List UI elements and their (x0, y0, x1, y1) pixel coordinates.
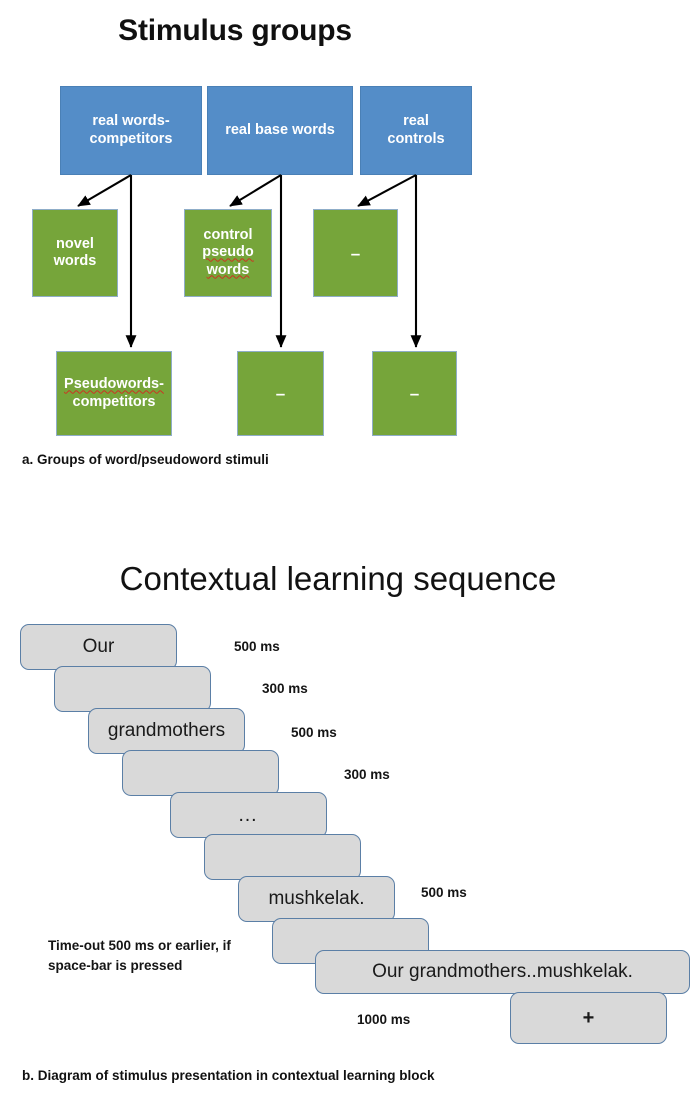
stimulus-card-5: … (170, 792, 327, 838)
duration-label-5: 500 ms (421, 885, 467, 900)
stimulus-card-4 (122, 750, 279, 796)
timeout-note: Time-out 500 ms or earlier, if space-bar… (48, 936, 263, 975)
box-line-1: Pseudowords- (64, 376, 164, 393)
box-dash: – (351, 245, 360, 262)
box-line-2: controls (387, 131, 444, 148)
stimulus-card-sentence: Our grandmothers..mushkelak. (315, 950, 690, 994)
group-box-bottom-empty-1: – (237, 351, 324, 436)
duration-label-4: 300 ms (344, 767, 390, 782)
stimulus-card-3: grandmothers (88, 708, 245, 754)
box-line-1: real (387, 113, 444, 130)
box-line-2: competitors (64, 394, 164, 411)
panel-a-title: Stimulus groups (0, 14, 470, 48)
duration-label-6: 1000 ms (357, 1012, 410, 1027)
duration-label-2: 300 ms (262, 681, 308, 696)
panel-a-caption: a. Groups of word/pseudoword stimuli (22, 452, 269, 467)
group-box-novel-words: novel words (32, 209, 118, 297)
arrow-rc-to-middle-empty (358, 175, 416, 206)
duration-label-3: 500 ms (291, 725, 337, 740)
box-dash: – (276, 385, 285, 402)
box-line-3: words (202, 262, 254, 279)
stimulus-card-7: mushkelak. (238, 876, 395, 922)
group-box-real-words-competitors: real words- competitors (60, 86, 202, 175)
box-line-1: control (202, 227, 254, 244)
box-line-1: real words- (90, 113, 173, 130)
arrow-rwc-to-novel-words (78, 175, 131, 206)
stimulus-card-6 (204, 834, 361, 880)
panel-a-stimulus-groups: Stimulus groups real words- competitors … (0, 0, 700, 500)
box-line-1: real base words (225, 122, 335, 139)
group-box-control-pseudo-words: control pseudo words (184, 209, 272, 297)
group-box-bottom-empty-2: – (372, 351, 457, 436)
stimulus-card-1: Our (20, 624, 177, 670)
arrow-rbw-to-control-pseudo-words (230, 175, 281, 206)
stimulus-card-2 (54, 666, 211, 712)
group-box-pseudowords-competitors: Pseudowords- competitors (56, 351, 172, 436)
panel-b-caption: b. Diagram of stimulus presentation in c… (22, 1068, 435, 1083)
box-dash: – (410, 385, 419, 402)
group-box-real-base-words: real base words (207, 86, 353, 175)
group-box-real-controls: real controls (360, 86, 472, 175)
duration-label-1: 500 ms (234, 639, 280, 654)
box-line-2: pseudo (202, 244, 254, 261)
stimulus-card-fixation: + (510, 992, 667, 1044)
panel-b-title: Contextual learning sequence (0, 560, 676, 598)
box-line-1: novel (54, 236, 97, 253)
group-box-middle-empty: – (313, 209, 398, 297)
box-line-2: competitors (90, 131, 173, 148)
box-line-2: words (54, 253, 97, 270)
panel-b-contextual-learning-sequence: Contextual learning sequence Our grandmo… (0, 540, 700, 1118)
